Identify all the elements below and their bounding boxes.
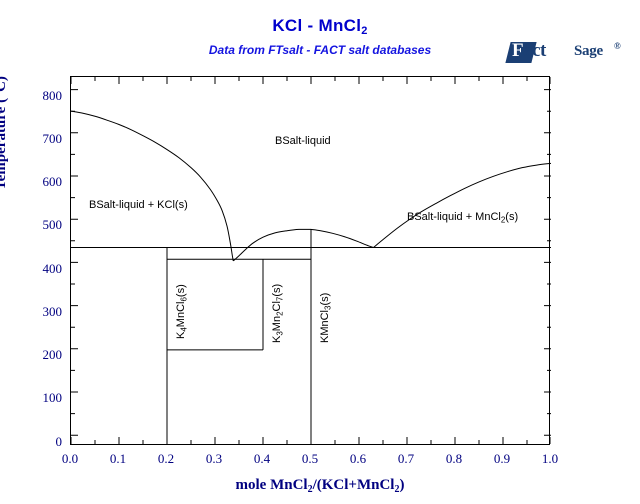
logo-letters-act: act: [523, 40, 546, 61]
compound-label-k3mn2cl7: K3Mn2Cl7(s): [271, 284, 284, 343]
y-tick-200: 200: [22, 347, 62, 363]
region-label-liquid: BSalt-liquid: [275, 135, 331, 147]
liquidus-mncl2-liquidus: [373, 163, 551, 247]
c1-post: (s): [175, 284, 187, 297]
x-axis-label-post: ): [399, 477, 404, 493]
y-tick-500: 500: [22, 217, 62, 233]
c2-mid: Mn: [271, 316, 283, 331]
y-tick-700: 700: [22, 131, 62, 147]
x-axis-label-pre: mole MnCl: [236, 477, 308, 493]
y-tick-0: 0: [22, 434, 62, 450]
page-title: KCl - MnCl2: [0, 16, 640, 37]
x-axis-label-mid: /(KCl+MnCl: [313, 477, 395, 493]
x-tick-0.9: 0.9: [482, 451, 522, 467]
logo-trademark-icon: ®: [614, 41, 621, 51]
c1-sub2: 6: [179, 297, 188, 301]
logo-fact-text: Fact: [512, 41, 546, 60]
x-tick-0.7: 0.7: [386, 451, 426, 467]
x-axis-label: mole MnCl2/(KCl+MnCl2): [0, 477, 640, 495]
title-subscript: 2: [361, 25, 367, 37]
logo-letter-f: F: [512, 40, 523, 61]
region-mncl2-post: (s): [505, 211, 518, 223]
y-tick-300: 300: [22, 304, 62, 320]
c2-sub3: 7: [275, 297, 284, 301]
y-axis-label-unit: C): [0, 76, 9, 92]
y-tick-100: 100: [22, 390, 62, 406]
degree-icon: °: [0, 92, 9, 98]
region-mncl2-pre: BSalt-liquid + MnCl: [407, 211, 501, 223]
region-label-liquid-kcl: BSalt-liquid + KCl(s): [89, 199, 188, 211]
compound-label-kmncl3: KMnCl3(s): [319, 293, 332, 343]
c2-sub2: 2: [275, 311, 284, 315]
x-tick-0.1: 0.1: [98, 451, 138, 467]
c1-pre: K: [175, 332, 187, 339]
x-tick-0.2: 0.2: [146, 451, 186, 467]
x-tick-0.0: 0.0: [50, 451, 90, 467]
y-tick-400: 400: [22, 261, 62, 277]
c2-sub1: 3: [275, 331, 284, 335]
x-tick-0.6: 0.6: [338, 451, 378, 467]
x-tick-0.3: 0.3: [194, 451, 234, 467]
c3-sub1: 3: [323, 306, 332, 310]
y-axis-label-text: Temperature (: [0, 98, 9, 190]
liquidus-kcl-liquidus: [71, 111, 233, 261]
factsage-logo: Fact Sage ®: [508, 36, 626, 66]
liquidus-k3mn2cl7-kmncl3-liquidus-left-branch: [233, 229, 311, 261]
c3-pre: KMnCl: [319, 310, 331, 343]
c1-mid: MnCl: [175, 302, 187, 328]
y-tick-600: 600: [22, 174, 62, 190]
plot-area: BSalt-liquid BSalt-liquid + KCl(s) BSalt…: [70, 76, 550, 445]
phase-diagram-page: KCl - MnCl2 Data from FTsalt - FACT salt…: [0, 0, 640, 504]
c3-post: (s): [319, 293, 331, 306]
region-label-liquid-mncl2: BSalt-liquid + MnCl2(s): [407, 211, 518, 224]
compound-label-k4mncl6: K4MnCl6(s): [175, 284, 188, 339]
c2-pre: K: [271, 336, 283, 343]
x-tick-0.5: 0.5: [290, 451, 330, 467]
y-axis-label: Temperature (°C): [0, 0, 10, 190]
y-tick-800: 800: [22, 88, 62, 104]
x-tick-0.4: 0.4: [242, 451, 282, 467]
c2-post: (s): [271, 284, 283, 297]
c1-sub1: 4: [179, 327, 188, 331]
phase-diagram-svg: [71, 77, 551, 446]
x-tick-1.0: 1.0: [530, 451, 570, 467]
x-tick-0.8: 0.8: [434, 451, 474, 467]
c2-mid2: Cl: [271, 301, 283, 311]
logo-sage-text: Sage: [574, 44, 603, 59]
title-text: KCl - MnCl: [272, 16, 361, 35]
liquidus-kmncl3-liquidus-right-branch: [311, 229, 373, 247]
